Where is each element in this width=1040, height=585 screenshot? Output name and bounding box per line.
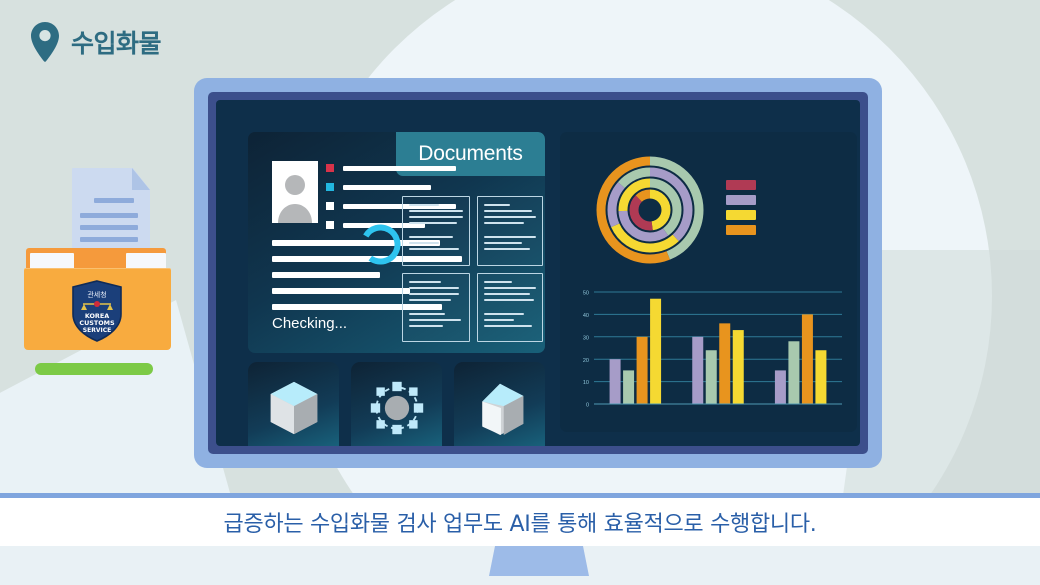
- korea-customs-service-emblem: 관세청 KOREA CUSTOMS SERVICE: [70, 280, 124, 342]
- caption-label: 급증하는 수입화물 검사 업무도 AI를 통해 효율적으로 수행합니다.: [0, 498, 1040, 546]
- status-label: Checking...: [272, 315, 347, 332]
- bar-series-a-g1: [610, 359, 621, 404]
- monitor-stand-base: [489, 546, 589, 576]
- svg-text:0: 0: [586, 403, 589, 409]
- tab-documents-label: Documents: [418, 142, 522, 166]
- legend-swatch-crimson: [726, 180, 756, 190]
- bullet-marker-white: [326, 202, 334, 210]
- list-item: [326, 164, 456, 172]
- legend-swatch-orange: [726, 225, 756, 235]
- document-thumbnail-grid: [402, 196, 534, 342]
- loading-spinner-icon: [356, 220, 405, 269]
- map-pin-icon: [30, 22, 60, 62]
- user-avatar-icon: [272, 161, 318, 223]
- open-box-icon: [473, 379, 527, 442]
- bar-series-b-g2: [706, 350, 717, 404]
- emblem-title-ko: 관세청: [87, 290, 106, 299]
- svg-text:40: 40: [583, 313, 589, 319]
- document-thumbnail-2[interactable]: [477, 196, 543, 266]
- bar-series-b-g1: [623, 370, 634, 404]
- bar-series-b-g3: [788, 341, 799, 404]
- tile-row: [248, 362, 545, 446]
- tile-sealed-box[interactable]: [248, 362, 339, 446]
- emblem-line-2: CUSTOMS: [79, 319, 115, 327]
- bullet-marker-white: [326, 221, 334, 229]
- list-item: [326, 183, 456, 191]
- svg-text:20: 20: [583, 358, 589, 364]
- monitor-screen: Documents: [216, 100, 860, 446]
- bullet-marker-cyan: [326, 183, 334, 191]
- document-thumbnail-4[interactable]: [477, 273, 543, 343]
- legend-swatch-purple: [726, 195, 756, 205]
- scan-node-icon: [368, 379, 426, 442]
- page-title: 수입화물: [30, 22, 161, 62]
- bar-series-a-g3: [775, 370, 786, 404]
- bar-series-c-g2: [719, 323, 730, 404]
- analytics-panel[interactable]: 01020304050: [560, 132, 857, 432]
- tile-scan-network[interactable]: [351, 362, 442, 446]
- bar-series-c-g1: [637, 337, 648, 404]
- monitor: Documents: [194, 78, 882, 468]
- page-title-label: 수입화물: [71, 24, 161, 60]
- tile-open-box[interactable]: [454, 362, 545, 446]
- bullet-text-bar: [343, 166, 456, 171]
- donut-legend: [726, 180, 756, 240]
- document-thumbnail-3[interactable]: [402, 273, 470, 343]
- bullet-text-bar: [343, 185, 431, 190]
- screenshot-stage: 수입화물 관세청 KOREA CUSTOMS SERVICE: [0, 0, 1040, 585]
- concentric-donut-chart: [594, 154, 706, 266]
- bar-series-a-g2: [692, 337, 703, 404]
- document-thumbnail-1[interactable]: [402, 196, 470, 266]
- legend-swatch-yellow: [726, 210, 756, 220]
- svg-text:10: 10: [583, 380, 589, 386]
- svg-text:30: 30: [583, 335, 589, 341]
- bar-series-d-g2: [733, 330, 744, 404]
- bar-series-d-g1: [650, 299, 661, 404]
- bullet-marker-red: [326, 164, 334, 172]
- bar-chart: 01020304050: [570, 284, 848, 418]
- closed-box-icon: [267, 379, 321, 442]
- bar-series-d-g3: [815, 350, 826, 404]
- svg-text:50: 50: [583, 291, 589, 297]
- bar-series-c-g3: [802, 314, 813, 404]
- documents-panel[interactable]: Documents: [248, 132, 545, 353]
- emblem-line-3: SERVICE: [83, 327, 111, 334]
- progress-bar: [35, 363, 153, 375]
- folder-illustration: 관세청 KOREA CUSTOMS SERVICE: [18, 168, 188, 383]
